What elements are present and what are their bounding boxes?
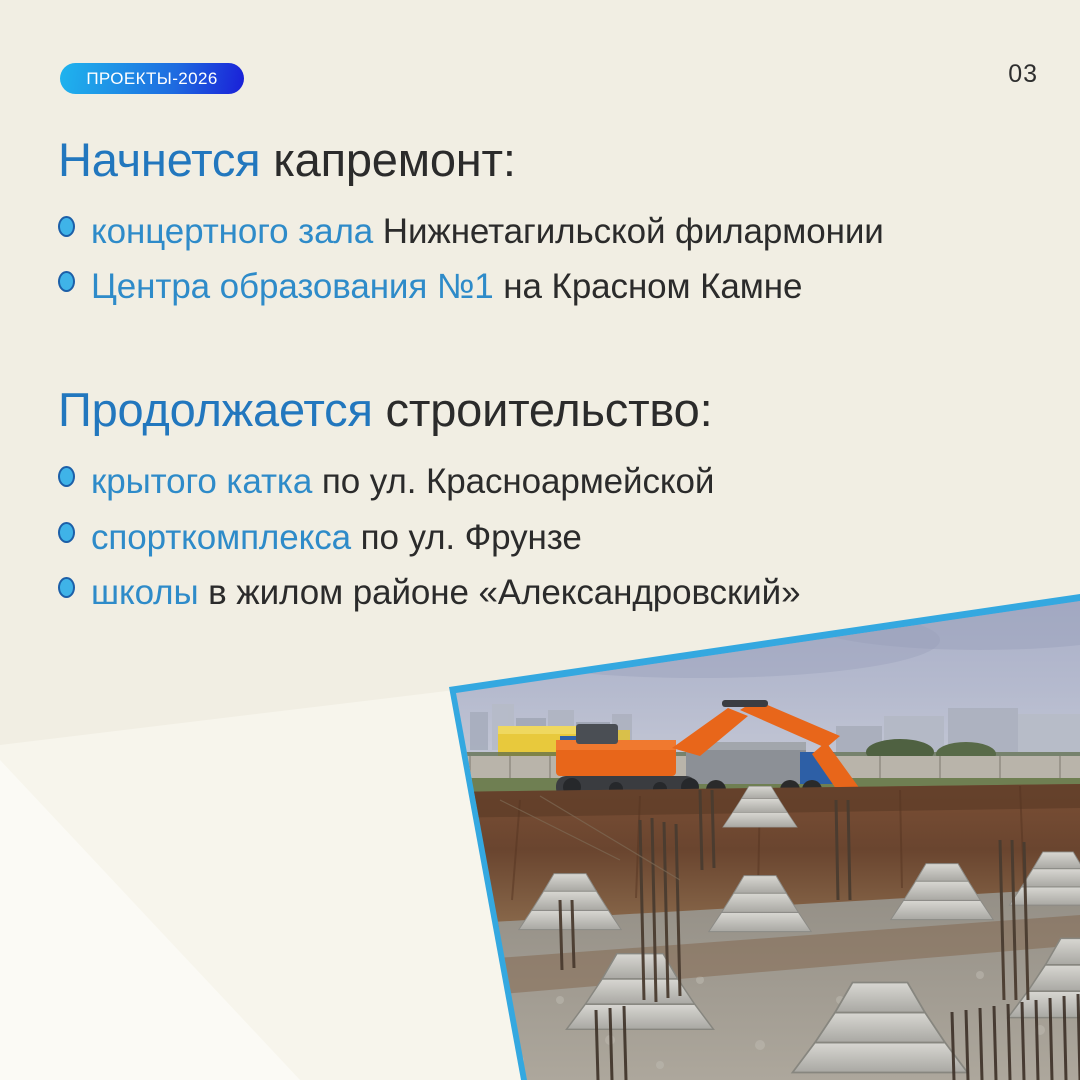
list-item-highlight: концертного зала: [91, 212, 373, 251]
section-2-heading: Продолжается строительство:: [58, 386, 1058, 433]
page-number: 03: [1008, 62, 1038, 87]
bullet-dot-icon: [58, 216, 75, 237]
list-item: школы в жилом районе «Александровский»: [58, 570, 1058, 616]
list-item-highlight: Центра образования №1: [91, 267, 494, 306]
list-item: концертного зала Нижнетагильской филармо…: [58, 209, 1058, 255]
projects-badge: ПРОЕКТЫ-2026: [60, 63, 244, 94]
bullet-dot-icon: [58, 577, 75, 598]
list-item-rest: на Красном Камне: [494, 267, 803, 306]
section-2-heading-highlight: Продолжается: [58, 383, 373, 436]
list-item-rest: по ул. Красноармейской: [312, 462, 714, 501]
section-1-heading: Начнется капремонт:: [58, 136, 1058, 183]
list-item-highlight: крытого катка: [91, 462, 312, 501]
list-item-rest: в жилом районе «Александровский»: [199, 573, 801, 612]
bullet-dot-icon: [58, 271, 75, 292]
list-item: спорткомплекса по ул. Фрунзе: [58, 515, 1058, 561]
list-item-rest: по ул. Фрунзе: [351, 518, 582, 557]
list-item-rest: Нижнетагильской филармонии: [373, 212, 884, 251]
list-item-highlight: спорткомплекса: [91, 518, 351, 557]
list-item: крытого катка по ул. Красноармейской: [58, 459, 1058, 505]
list-item: Центра образования №1 на Красном Камне: [58, 264, 1058, 310]
slide-content: Начнется капремонт: концертного зала Ниж…: [58, 136, 1058, 625]
section-2-heading-rest: строительство:: [373, 383, 713, 436]
section-1-heading-rest: капремонт:: [260, 133, 515, 186]
list-item-highlight: школы: [91, 573, 199, 612]
section-1-heading-highlight: Начнется: [58, 133, 260, 186]
bullet-dot-icon: [58, 522, 75, 543]
slide-root: ПРОЕКТЫ-2026 03 Начнется капремонт: конц…: [0, 0, 1080, 1080]
projects-badge-label: ПРОЕКТЫ-2026: [86, 70, 217, 87]
section-1-list: концертного зала Нижнетагильской филармо…: [58, 209, 1058, 310]
section-2-list: крытого катка по ул. Красноармейской спо…: [58, 459, 1058, 616]
bullet-dot-icon: [58, 466, 75, 487]
